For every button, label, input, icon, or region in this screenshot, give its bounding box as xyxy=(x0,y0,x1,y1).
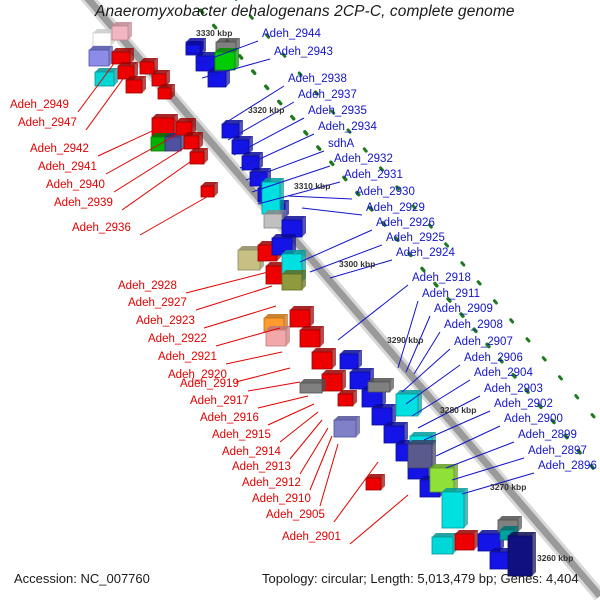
gene-label[interactable]: Adeh_2907 xyxy=(454,336,513,348)
gene-label[interactable]: Adeh_2902 xyxy=(494,398,553,410)
gene-feature[interactable] xyxy=(300,326,324,347)
label-leader-line xyxy=(226,352,282,364)
gene-label[interactable]: Adeh_2897 xyxy=(528,445,587,457)
gene-feature[interactable] xyxy=(215,48,239,70)
gene-label[interactable]: Adeh_2936 xyxy=(72,222,131,234)
label-leader-line xyxy=(310,436,332,490)
ruler-tick-label: 3310 kbp xyxy=(294,181,330,191)
gene-feature[interactable] xyxy=(430,464,458,492)
gene-label[interactable]: Adeh_2941 xyxy=(38,161,97,173)
gene-feature[interactable] xyxy=(158,84,175,99)
gene-label[interactable]: Adeh_2942 xyxy=(30,143,89,155)
ruler-tick-label: 3270 kbp xyxy=(490,482,526,492)
gene-feature[interactable] xyxy=(338,390,357,406)
gene-label[interactable]: Adeh_2947 xyxy=(18,117,77,129)
label-leader-line xyxy=(302,208,362,215)
label-leader-line xyxy=(236,368,290,382)
gene-label[interactable]: Adeh_2903 xyxy=(484,383,543,395)
gene-label[interactable]: Adeh_2906 xyxy=(464,352,523,364)
gene-feature[interactable] xyxy=(334,416,360,437)
gene-feature[interactable] xyxy=(152,70,170,86)
ruler-tick-label: 3300 kbp xyxy=(339,259,375,269)
gene-label[interactable]: Adeh_2934 xyxy=(318,121,377,133)
gene-feature[interactable] xyxy=(300,379,326,393)
label-leader-line xyxy=(288,196,352,199)
gene-label[interactable]: Adeh_2938 xyxy=(288,73,347,85)
gene-label[interactable]: Adeh_2939 xyxy=(54,197,113,209)
ruler-tick-label: 3320 kbp xyxy=(248,105,284,115)
gene-label[interactable]: Adeh_2901 xyxy=(282,531,341,543)
gene-feature[interactable] xyxy=(190,148,208,164)
label-leader-line xyxy=(106,133,180,174)
gene-feature[interactable] xyxy=(112,22,132,40)
gene-feature[interactable] xyxy=(340,350,362,369)
gene-label[interactable]: Adeh_2927 xyxy=(128,297,187,309)
gene-label[interactable]: Adeh_2910 xyxy=(252,493,311,505)
label-leader-line xyxy=(122,162,190,210)
genome-stats-text: Topology: circular; Length: 5,013,479 bp… xyxy=(262,571,579,586)
gene-label[interactable]: Adeh_2921 xyxy=(158,351,217,363)
gene-feature[interactable] xyxy=(372,404,396,425)
page-title: Anaeromyxobacter dehalogenans 2CP-C, com… xyxy=(95,3,515,21)
label-leader-line xyxy=(186,272,268,293)
accession-text: Accession: NC_007760 xyxy=(14,571,150,586)
gene-label[interactable]: Adeh_2926 xyxy=(376,217,435,229)
gene-label[interactable]: Adeh_2911 xyxy=(422,288,480,300)
gene-feature[interactable] xyxy=(242,152,263,170)
label-leader-line xyxy=(290,420,322,459)
gene-label[interactable]: Adeh_2925 xyxy=(386,232,445,244)
ruler-tick-label: 3260 kbp xyxy=(537,553,573,563)
gene-label[interactable]: Adeh_2931 xyxy=(344,169,403,181)
gene-label[interactable]: Adeh_2944 xyxy=(262,28,321,40)
label-leader-line xyxy=(268,404,314,425)
gene-label[interactable]: Adeh_2943 xyxy=(274,46,333,58)
gene-label[interactable]: Adeh_2912 xyxy=(242,477,301,489)
label-leader-line xyxy=(300,230,372,262)
gene-label[interactable]: Adeh_2899 xyxy=(518,429,577,441)
gene-label[interactable]: Adeh_2915 xyxy=(212,429,271,441)
gene-label[interactable]: Adeh_2935 xyxy=(308,105,367,117)
label-leader-line xyxy=(350,495,408,544)
gene-feature[interactable] xyxy=(384,422,408,443)
gene-feature[interactable] xyxy=(95,68,118,86)
gene-feature[interactable] xyxy=(312,348,336,369)
ruler-tick-label: 3330 kbp xyxy=(196,28,232,38)
label-leader-line xyxy=(140,194,212,235)
gene-label[interactable]: Adeh_2932 xyxy=(334,153,393,165)
gene-label[interactable]: Adeh_2919 xyxy=(180,378,239,390)
gene-feature[interactable] xyxy=(408,440,436,468)
gene-label[interactable]: Adeh_2909 xyxy=(434,303,493,315)
gene-feature[interactable] xyxy=(89,46,113,66)
ruler-tick-label: 3280 kbp xyxy=(440,405,476,415)
gene-label[interactable]: Adeh_2896 xyxy=(538,460,597,472)
gene-feature[interactable] xyxy=(126,76,146,93)
gene-feature[interactable] xyxy=(184,132,203,149)
gene-label[interactable]: Adeh_2914 xyxy=(222,446,281,458)
tick-arc-layer xyxy=(123,0,600,545)
gene-label[interactable]: Adeh_2928 xyxy=(118,280,177,292)
label-leader-line xyxy=(196,286,272,310)
label-leader-line xyxy=(300,428,328,474)
gene-feature[interactable] xyxy=(432,533,457,554)
gene-label[interactable]: Adeh_2900 xyxy=(504,413,563,425)
gene-label[interactable]: Adeh_2922 xyxy=(148,333,207,345)
gene-label[interactable]: Adeh_2937 xyxy=(298,89,357,101)
gene-label[interactable]: Adeh_2923 xyxy=(136,315,195,327)
gene-label[interactable]: Adeh_2929 xyxy=(366,202,425,214)
gene-feature[interactable] xyxy=(262,178,284,214)
gene-label[interactable]: sdhA xyxy=(328,138,354,150)
gene-label[interactable]: Adeh_2913 xyxy=(232,461,291,473)
gene-feature[interactable] xyxy=(290,306,314,327)
gene-feature[interactable] xyxy=(368,378,394,392)
genome-map-canvas[interactable]: Anaeromyxobacter dehalogenans 2CP-C, com… xyxy=(0,0,600,600)
gene-feature[interactable] xyxy=(201,182,218,197)
gene-label[interactable]: Adeh_2918 xyxy=(412,272,471,284)
label-leader-line xyxy=(248,382,300,391)
gene-label[interactable]: Adeh_2917 xyxy=(190,395,249,407)
gene-label[interactable]: Adeh_2930 xyxy=(356,186,415,198)
gene-label[interactable]: Adeh_2924 xyxy=(396,247,455,259)
label-leader-line xyxy=(320,444,338,506)
gene-feature[interactable] xyxy=(186,41,204,53)
gene-feature[interactable] xyxy=(508,532,536,576)
gene-label[interactable]: Adeh_2904 xyxy=(474,367,533,379)
gene-label[interactable]: Adeh_2916 xyxy=(200,412,259,424)
label-leader-line xyxy=(114,148,184,192)
gene-feature[interactable] xyxy=(366,474,385,490)
gene-label[interactable]: Adeh_2905 xyxy=(266,509,325,521)
label-leader-line xyxy=(334,462,378,522)
gene-label[interactable]: Adeh_2940 xyxy=(46,179,105,191)
gene-feature[interactable] xyxy=(282,216,306,237)
gene-label[interactable]: Adeh_2908 xyxy=(444,319,503,331)
gene-label[interactable]: Adeh_2949 xyxy=(10,99,69,111)
gene-feature[interactable] xyxy=(282,270,306,290)
label-leader-line xyxy=(258,396,308,408)
gene-feature[interactable] xyxy=(232,136,253,154)
ruler-tick-label: 3290 kbp xyxy=(387,335,423,345)
gene-feature[interactable] xyxy=(455,530,478,550)
gene-feature[interactable] xyxy=(442,488,468,528)
